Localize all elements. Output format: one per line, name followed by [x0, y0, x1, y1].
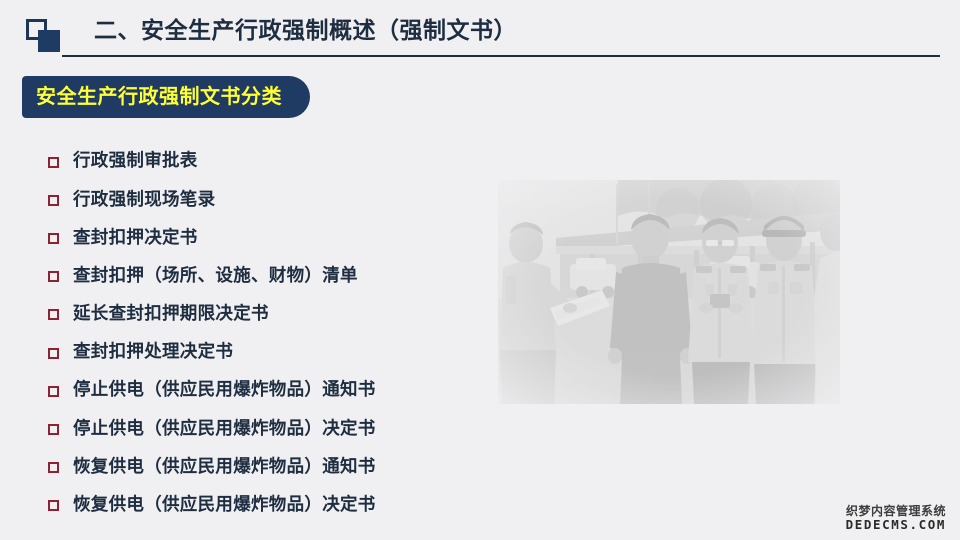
list-item-label: 延长查封扣押期限决定书: [73, 305, 269, 323]
hollow-square-bullet-icon: [48, 424, 59, 435]
overlapping-squares-icon: [26, 19, 62, 53]
document-type-list: 行政强制审批表 行政强制现场笔录 查封扣押决定书 查封扣押（场所、设施、财物）清…: [48, 142, 518, 524]
list-item: 行政强制现场笔录: [48, 180, 518, 218]
inspection-photo: [498, 180, 840, 404]
list-item-label: 查封扣押处理决定书: [73, 343, 233, 361]
list-item: 查封扣押处理决定书: [48, 333, 518, 371]
list-item: 停止供电（供应民用爆炸物品）决定书: [48, 409, 518, 447]
header-divider: [62, 55, 940, 57]
list-item-label: 行政强制审批表: [73, 152, 198, 170]
hollow-square-bullet-icon: [48, 309, 59, 320]
list-item: 恢复供电（供应民用爆炸物品）决定书: [48, 486, 518, 524]
hollow-square-bullet-icon: [48, 462, 59, 473]
list-item: 停止供电（供应民用爆炸物品）通知书: [48, 371, 518, 409]
hollow-square-bullet-icon: [48, 348, 59, 359]
hollow-square-bullet-icon: [48, 195, 59, 206]
hollow-square-bullet-icon: [48, 271, 59, 282]
hollow-square-bullet-icon: [48, 500, 59, 511]
list-item-label: 恢复供电（供应民用爆炸物品）决定书: [73, 496, 376, 514]
inspection-photo-graphic: [498, 180, 840, 404]
list-item-label: 查封扣押决定书: [73, 229, 198, 247]
watermark: 织梦内容管理系统 DEDECMS.COM: [846, 505, 946, 532]
slide-header: 二、安全生产行政强制概述（强制文书）: [0, 0, 960, 64]
page-title: 二、安全生产行政强制概述（强制文书）: [94, 14, 517, 46]
list-item-label: 停止供电（供应民用爆炸物品）决定书: [73, 420, 376, 438]
list-item-label: 停止供电（供应民用爆炸物品）通知书: [73, 381, 376, 399]
list-item: 查封扣押（场所、设施、财物）清单: [48, 257, 518, 295]
watermark-cn-text: 织梦内容管理系统: [846, 505, 946, 518]
watermark-en-text: DEDECMS.COM: [846, 518, 946, 532]
list-item-label: 行政强制现场笔录: [73, 191, 215, 209]
list-item: 行政强制审批表: [48, 142, 518, 180]
hollow-square-bullet-icon: [48, 233, 59, 244]
logo-square-filled: [38, 30, 60, 52]
section-tag-label: 安全生产行政强制文书分类: [36, 87, 282, 107]
list-item-label: 恢复供电（供应民用爆炸物品）通知书: [73, 458, 376, 476]
slide-canvas: 二、安全生产行政强制概述（强制文书） 安全生产行政强制文书分类 行政强制审批表 …: [0, 0, 960, 540]
list-item: 延长查封扣押期限决定书: [48, 295, 518, 333]
list-item-label: 查封扣押（场所、设施、财物）清单: [73, 267, 358, 285]
hollow-square-bullet-icon: [48, 386, 59, 397]
section-tag-banner: 安全生产行政强制文书分类: [22, 76, 310, 118]
list-item: 恢复供电（供应民用爆炸物品）通知书: [48, 448, 518, 486]
hollow-square-bullet-icon: [48, 157, 59, 168]
list-item: 查封扣押决定书: [48, 218, 518, 256]
